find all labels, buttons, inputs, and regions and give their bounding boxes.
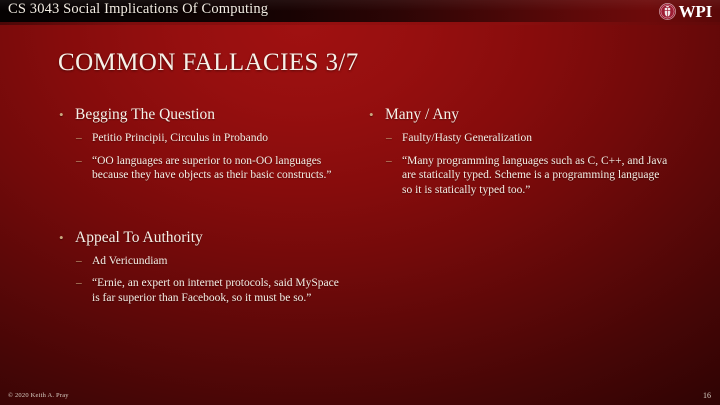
dash-icon: – bbox=[76, 154, 82, 169]
topic-heading: • Begging The Question bbox=[57, 104, 342, 125]
slide: CS 3043 Social Implications Of Computing… bbox=[0, 0, 720, 405]
bullet-icon: • bbox=[369, 104, 374, 125]
copyright-notice: © 2020 Keith A. Pray bbox=[8, 391, 69, 400]
sub-item: – Ad Vericundiam bbox=[57, 254, 342, 269]
wpi-wordmark: WPI bbox=[679, 3, 712, 20]
wpi-seal-icon bbox=[659, 3, 676, 20]
topic-heading-label: Many / Any bbox=[385, 106, 459, 123]
dash-icon: – bbox=[76, 276, 82, 291]
sub-item-label: “OO languages are superior to non-OO lan… bbox=[92, 155, 332, 182]
dash-icon: – bbox=[76, 254, 82, 269]
content-columns: • Begging The Question – Petitio Princip… bbox=[0, 104, 720, 305]
sub-item: – “OO languages are superior to non-OO l… bbox=[57, 154, 342, 183]
page-number: 16 bbox=[703, 391, 711, 400]
sub-item-label: Petitio Principii, Circulus in Probando bbox=[92, 132, 268, 144]
sub-item-label: Faulty/Hasty Generalization bbox=[402, 132, 532, 144]
left-column: • Begging The Question – Petitio Princip… bbox=[0, 104, 350, 305]
sub-item: – Petitio Principii, Circulus in Proband… bbox=[57, 131, 342, 146]
topic-heading-label: Appeal To Authority bbox=[75, 229, 203, 246]
topic-block-begging-the-question: • Begging The Question – Petitio Princip… bbox=[57, 104, 342, 183]
course-title: CS 3043 Social Implications Of Computing bbox=[8, 1, 268, 18]
dash-icon: – bbox=[76, 131, 82, 146]
sub-item: – “Many programming languages such as C,… bbox=[367, 154, 670, 198]
bullet-icon: • bbox=[59, 227, 64, 248]
dash-icon: – bbox=[386, 154, 392, 169]
sub-item-label: Ad Vericundiam bbox=[92, 255, 167, 267]
right-column: • Many / Any – Faulty/Hasty Generalizati… bbox=[350, 104, 690, 305]
topic-heading-label: Begging The Question bbox=[75, 106, 215, 123]
topic-heading: • Many / Any bbox=[367, 104, 670, 125]
sub-item: – Faulty/Hasty Generalization bbox=[367, 131, 670, 146]
dash-icon: – bbox=[386, 131, 392, 146]
bullet-icon: • bbox=[59, 104, 64, 125]
topic-block-many-any: • Many / Any – Faulty/Hasty Generalizati… bbox=[367, 104, 670, 197]
sub-item-label: “Ernie, an expert on internet protocols,… bbox=[92, 277, 339, 304]
header-underline-divider bbox=[0, 22, 720, 25]
topic-block-appeal-to-authority: • Appeal To Authority – Ad Vericundiam –… bbox=[57, 227, 342, 306]
page-title: COMMON FALLACIES 3/7 bbox=[58, 48, 359, 78]
sub-item: – “Ernie, an expert on internet protocol… bbox=[57, 276, 342, 305]
wpi-logo: WPI bbox=[659, 1, 712, 21]
sub-item-label: “Many programming languages such as C, C… bbox=[402, 155, 667, 196]
topic-heading: • Appeal To Authority bbox=[57, 227, 342, 248]
